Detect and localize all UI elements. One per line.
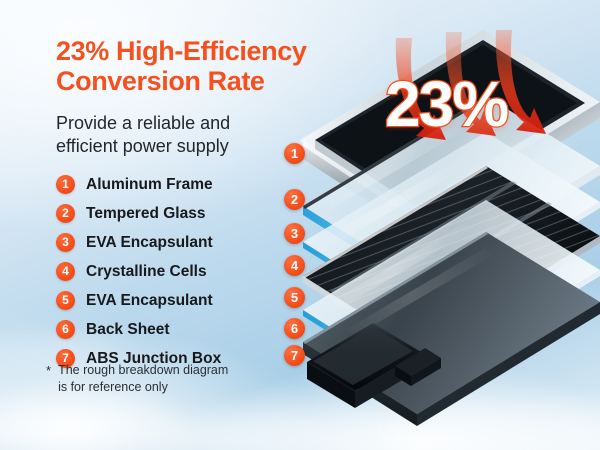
legend-label-1: Aluminum Frame	[86, 176, 213, 194]
callout-7: 7	[284, 345, 305, 366]
disclaimer-note: * The rough breakdown diagram is for ref…	[46, 362, 296, 396]
legend-badge-6: 6	[56, 320, 75, 339]
layer-legend-list: 1 Aluminum Frame 2 Tempered Glass 3 EVA …	[56, 172, 221, 375]
callout-4: 4	[284, 255, 305, 276]
subtitle-line-1: Provide a reliable and	[56, 112, 306, 135]
list-item: 4 Crystalline Cells	[56, 259, 221, 284]
disclaimer-line-1: The rough breakdown diagram	[58, 363, 228, 377]
list-item: 6 Back Sheet	[56, 317, 221, 342]
list-item: 3 EVA Encapsulant	[56, 230, 221, 255]
callout-6: 6	[284, 318, 305, 339]
page-subtitle: Provide a reliable and efficient power s…	[56, 112, 306, 158]
callout-3: 3	[284, 223, 305, 244]
legend-label-6: Back Sheet	[86, 321, 170, 339]
callout-2: 2	[284, 189, 305, 210]
disclaimer-line-2: is for reference only	[58, 380, 168, 394]
cloud-decoration	[0, 398, 180, 450]
disclaimer-text: The rough breakdown diagram is for refer…	[58, 362, 228, 396]
legend-label-3: EVA Encapsulant	[86, 234, 213, 252]
asterisk-icon: *	[46, 362, 51, 396]
subtitle-line-2: efficient power supply	[56, 135, 306, 158]
page-title: 23% High-Efficiency Conversion Rate	[56, 36, 376, 96]
headline-line-2: Conversion Rate	[56, 66, 376, 96]
callout-1: 1	[284, 143, 305, 164]
legend-label-5: EVA Encapsulant	[86, 292, 213, 310]
callout-5: 5	[284, 287, 305, 308]
legend-badge-5: 5	[56, 291, 75, 310]
list-item: 2 Tempered Glass	[56, 201, 221, 226]
list-item: 5 EVA Encapsulant	[56, 288, 221, 313]
infographic-canvas: 1 2 3 4 5 6 7 23% 23% High	[0, 0, 600, 450]
efficiency-percent-value: 23%	[385, 72, 507, 136]
legend-badge-3: 3	[56, 233, 75, 252]
legend-badge-4: 4	[56, 262, 75, 281]
list-item: 1 Aluminum Frame	[56, 172, 221, 197]
legend-label-2: Tempered Glass	[86, 205, 205, 223]
legend-badge-1: 1	[56, 175, 75, 194]
legend-label-4: Crystalline Cells	[86, 263, 207, 281]
legend-badge-2: 2	[56, 204, 75, 223]
headline-line-1: 23% High-Efficiency	[56, 36, 376, 66]
